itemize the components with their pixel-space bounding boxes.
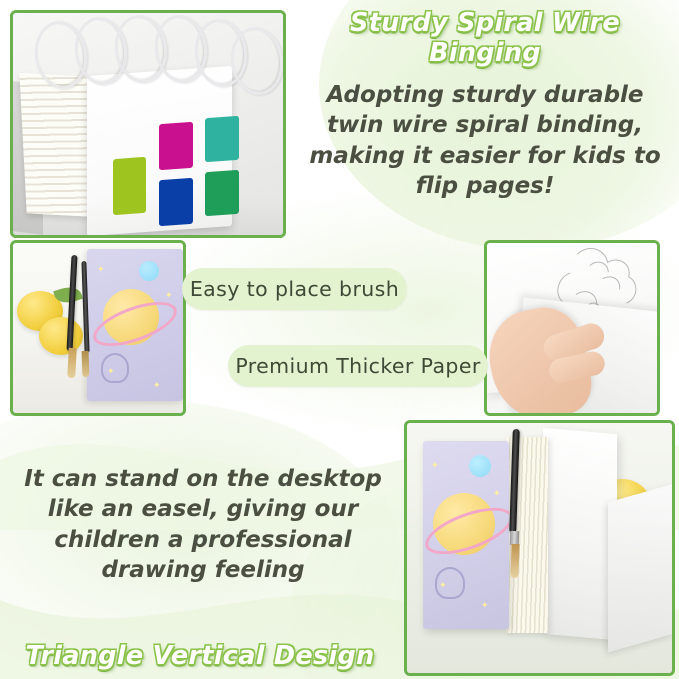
- cover-swatch-2: [159, 122, 193, 170]
- caption-premium-thicker-paper: Premium Thicker Paper: [228, 345, 488, 387]
- photo-thicker-paper: [484, 240, 660, 416]
- photo-spiral-binding: [10, 10, 286, 238]
- paint-brush-tip: [510, 544, 519, 578]
- easel-support-flap: [608, 484, 672, 653]
- photo-triangle-vertical-design: ✦ ✦ ✦ ✦: [404, 420, 675, 676]
- easel-back-board: [543, 428, 617, 640]
- paint-brush-tip: [67, 348, 77, 378]
- cover-swatch-4: [159, 178, 193, 226]
- product-feature-poster: Sturdy Spiral Wire Binging Adopting stur…: [0, 0, 679, 679]
- paragraph-spiral-binding: Adopting sturdy durable twin wire spiral…: [300, 80, 670, 201]
- cover-swatch-5: [205, 170, 239, 216]
- photo-brush-placement: ✦ ✦ ✦ ✦: [10, 240, 186, 416]
- heading-spiral-binding: Sturdy Spiral Wire Binging: [295, 8, 675, 68]
- book-cover: ✦ ✦ ✦ ✦: [423, 441, 509, 629]
- paragraph-easel-stand: It can stand on the desktop like an ease…: [18, 464, 388, 585]
- heading-triangle-vertical-design: Triangle Vertical Design: [10, 641, 390, 671]
- cover-swatch-1: [113, 157, 146, 215]
- paint-brush-tip: [82, 351, 90, 377]
- cover-swatch-3: [205, 116, 239, 162]
- coloring-book: ✦ ✦ ✦ ✦: [87, 249, 183, 401]
- caption-easy-place-brush: Easy to place brush: [182, 268, 407, 310]
